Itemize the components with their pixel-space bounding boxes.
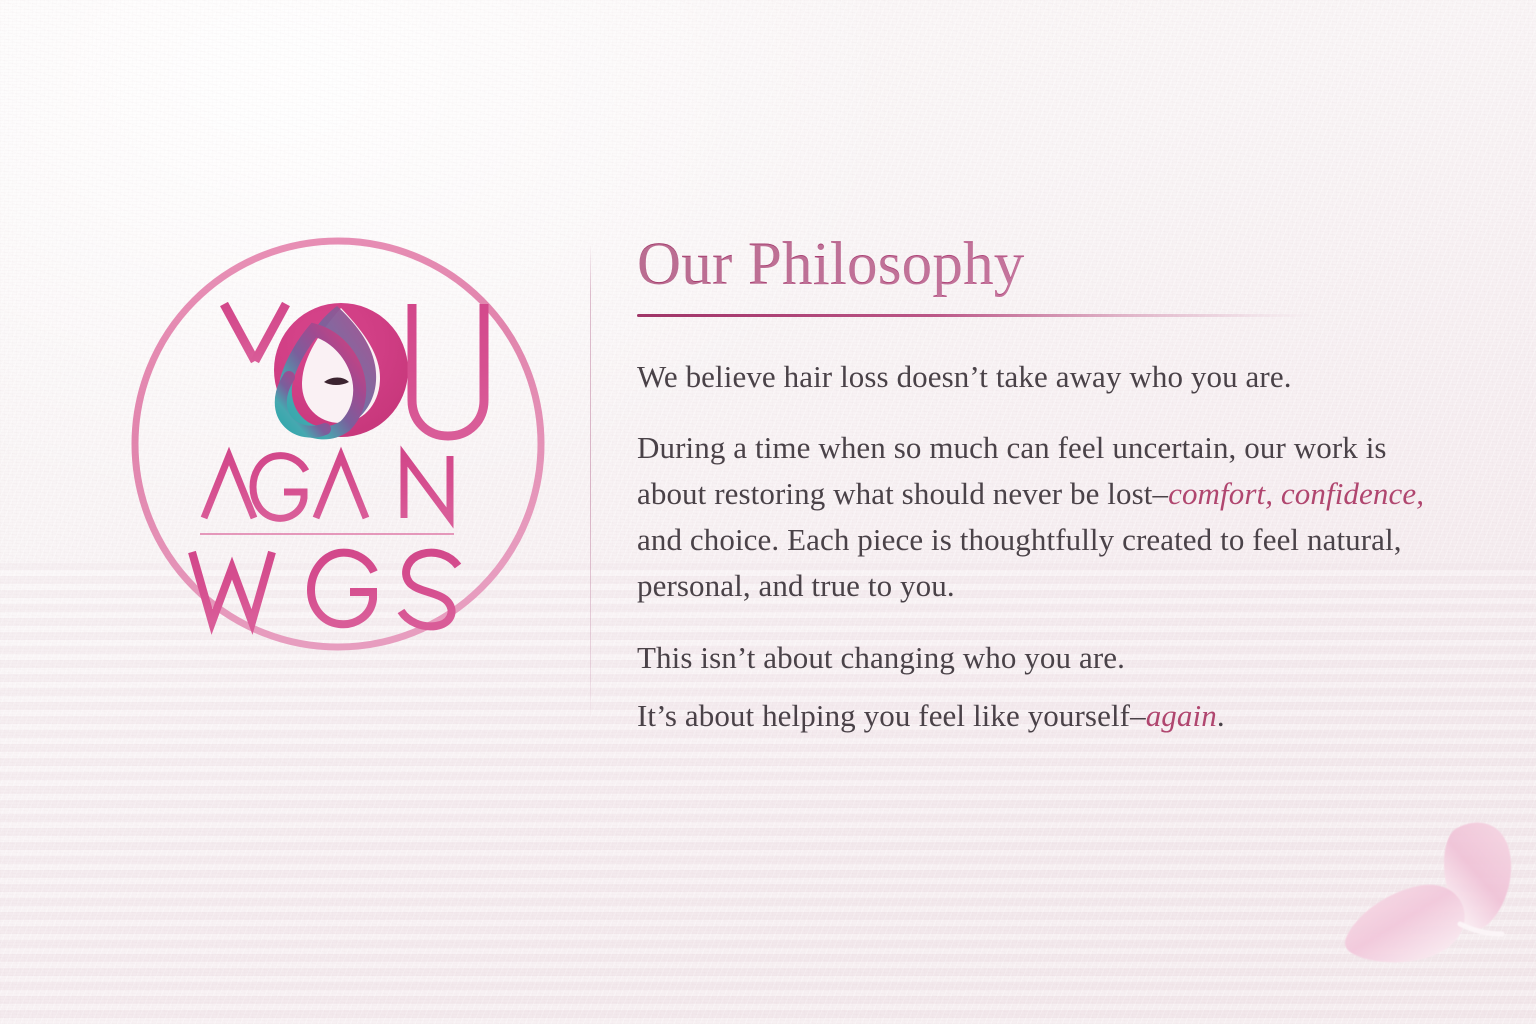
text-run: . [1217,698,1225,733]
philosophy-slide: Our Philosophy We believe hair loss does… [0,0,1536,1024]
text-run: It’s about helping you feel like yoursel… [637,698,1146,733]
paragraph-2: During a time when so much can feel unce… [637,425,1437,609]
flower-petals-decoration [1336,806,1536,976]
paragraph-3: This isn’t about changing who you are. [637,635,1437,681]
page-title: Our Philosophy [637,232,1437,298]
logo-letter-o-portrait [274,303,408,437]
logo-ring [135,241,541,647]
philosophy-content: Our Philosophy We believe hair loss does… [637,232,1437,739]
emphasis-run-comfort-confidence: comfort, confidence, [1168,476,1424,511]
petal-stem-icon [1460,924,1502,934]
title-underline-rule [637,314,1313,317]
petal-icon [1444,823,1511,930]
paragraph-4: It’s about helping you feel like yoursel… [637,693,1437,739]
petal-icon [1345,885,1465,962]
text-run: We believe hair loss doesn’t take away w… [637,359,1292,394]
text-run: This isn’t about changing who you are. [637,640,1125,675]
emphasis-run-again: again [1146,698,1217,733]
vertical-divider [590,246,591,716]
logo-word-again [204,456,450,519]
text-run: and choice. Each piece is thoughtfully c… [637,522,1402,603]
paragraph-1: We believe hair loss doesn’t take away w… [637,354,1437,400]
logo-letter-u [412,304,484,436]
you-again-wigs-logo[interactable] [128,234,548,654]
